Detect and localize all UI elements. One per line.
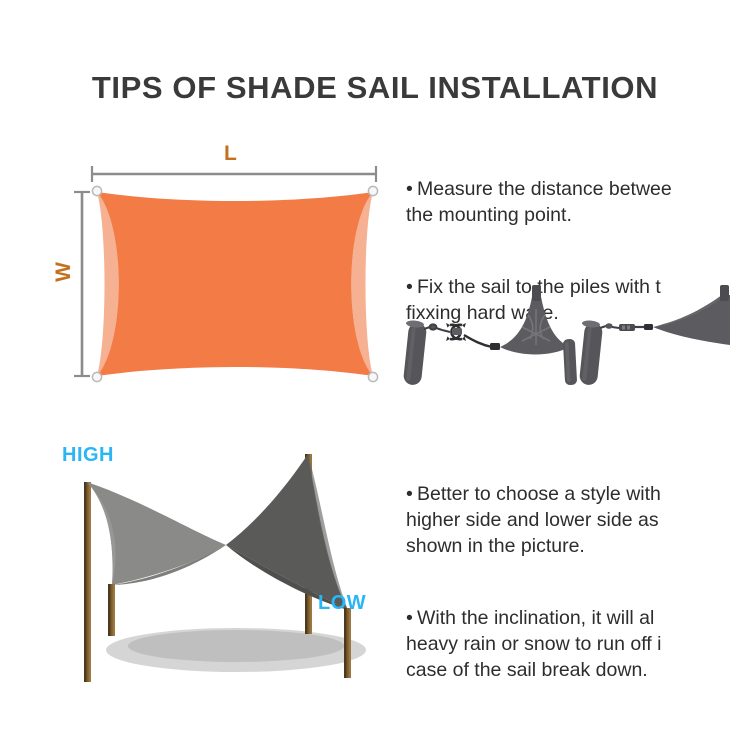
page-title: TIPS OF SHADE SAIL INSTALLATION bbox=[0, 70, 750, 106]
post-low-left bbox=[108, 584, 115, 636]
sail-shape-svg bbox=[60, 140, 405, 405]
ground-shadow-soft bbox=[128, 630, 344, 662]
rope-clamp-left bbox=[490, 343, 500, 350]
tip-text: Measure the distance betwee the mounting… bbox=[406, 178, 672, 226]
tip-text: Better to choose a style with higher sid… bbox=[406, 483, 661, 557]
canopy-sail-light bbox=[87, 482, 226, 585]
length-dimension-label: L bbox=[224, 142, 237, 166]
tip-text: With the inclination, it will al heavy r… bbox=[406, 607, 661, 681]
turnbuckle-right bbox=[619, 324, 653, 331]
tip-item: •With the inclination, it will al heavy … bbox=[406, 579, 750, 683]
pile-post-right bbox=[579, 320, 603, 386]
low-side-label: LOW bbox=[318, 592, 366, 615]
sail-corner-left bbox=[500, 285, 570, 355]
canopy-svg bbox=[40, 432, 410, 707]
high-side-label: HIGH bbox=[62, 444, 114, 467]
width-dimension-label: W bbox=[52, 262, 76, 282]
orange-sail-body bbox=[97, 192, 373, 376]
canopy-sail-dark bbox=[226, 454, 348, 610]
bullet-icon: • bbox=[406, 605, 417, 631]
post-low-right bbox=[344, 608, 351, 678]
bullet-icon: • bbox=[406, 481, 417, 507]
turnbuckle-left bbox=[442, 323, 466, 341]
sail-corner-right bbox=[653, 285, 730, 345]
hardware-illustration-left bbox=[403, 285, 577, 386]
carabiner-left bbox=[424, 324, 442, 330]
bullet-icon: • bbox=[406, 176, 417, 202]
width-dimension-line bbox=[74, 192, 90, 376]
hardware-diagram bbox=[400, 283, 750, 393]
hardware-illustration-right bbox=[579, 285, 730, 386]
tips-top-list: •Measure the distance betwee the mountin… bbox=[406, 150, 750, 280]
tip-item: •Better to choose a style with higher si… bbox=[406, 455, 750, 559]
length-dimension-line bbox=[92, 166, 376, 182]
sail-dimension-diagram: L W bbox=[60, 140, 405, 405]
support-post-left-illustration bbox=[563, 339, 577, 386]
tip-item: •Measure the distance betwee the mountin… bbox=[406, 150, 750, 228]
pile-post-left bbox=[403, 320, 427, 386]
post-high-left bbox=[84, 482, 91, 682]
carabiner-right bbox=[600, 323, 619, 329]
tips-bottom-list: •Better to choose a style with higher si… bbox=[406, 455, 750, 655]
rope-left bbox=[464, 335, 492, 347]
infographic-page: TIPS OF SHADE SAIL INSTALLATION L W bbox=[0, 0, 750, 750]
hardware-svg bbox=[400, 283, 750, 393]
canopy-diagram: HIGH LOW bbox=[40, 432, 410, 707]
